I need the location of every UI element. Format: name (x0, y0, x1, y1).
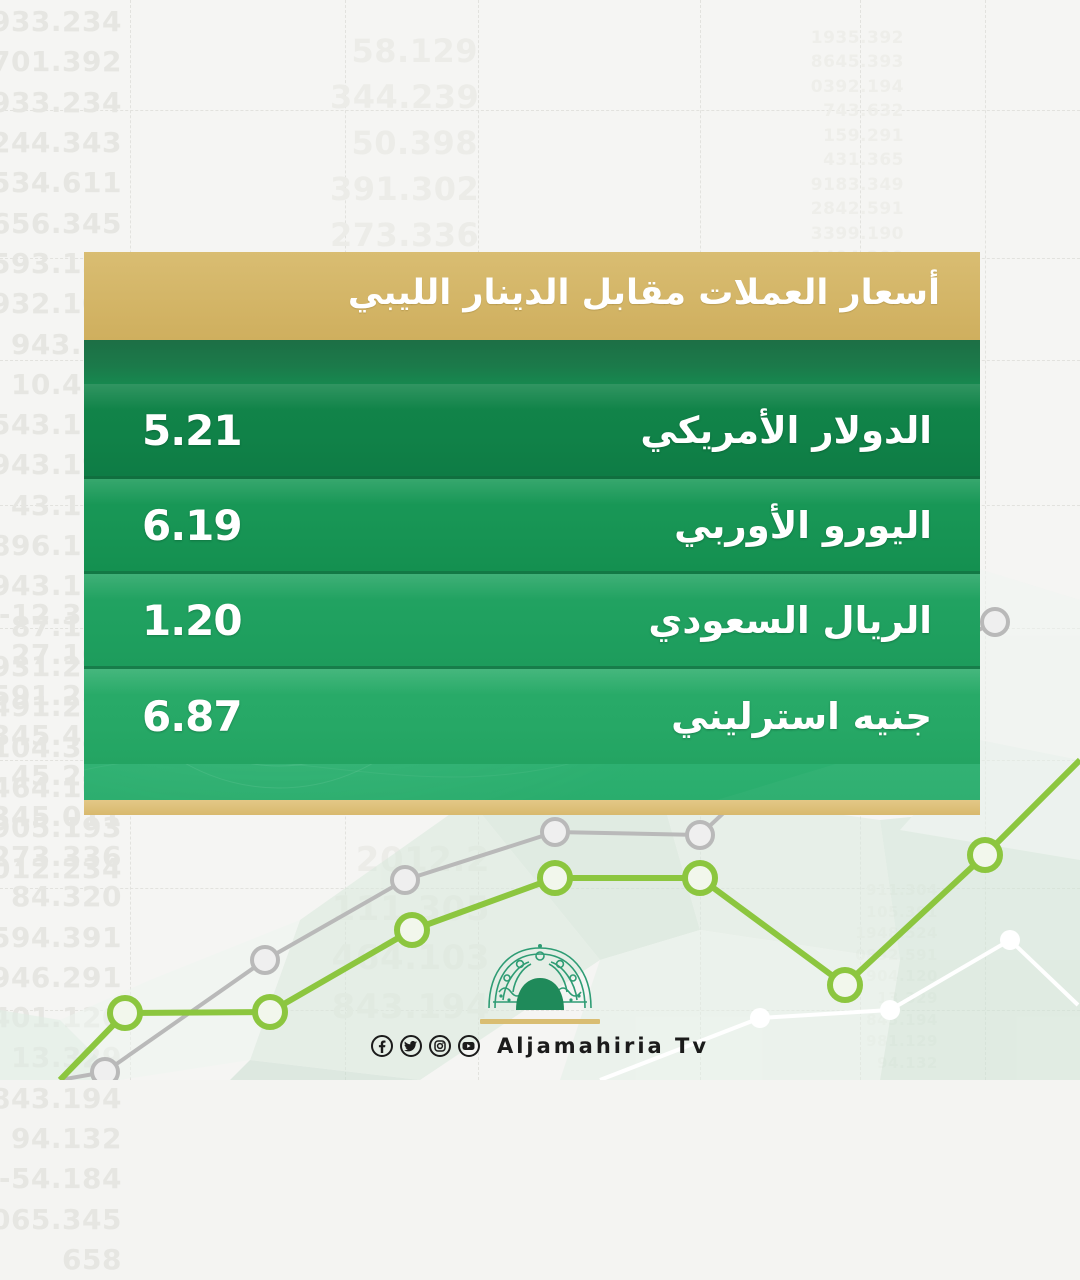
currency-value: 6.87 (142, 692, 242, 741)
currency-value: 5.21 (142, 406, 242, 455)
brand-footer: Aljamahiria Tv (0, 930, 1080, 1058)
currency-name: اليورو الأوربي (674, 504, 932, 547)
card-header: أسعار العملات مقابل الدينار الليبي (84, 252, 980, 340)
currency-row: 5.21الدولار الأمريكي (84, 384, 980, 479)
currency-row: 6.19اليورو الأوربي (84, 479, 980, 574)
card-body: 5.21الدولار الأمريكي6.19اليورو الأوربي1.… (84, 340, 980, 800)
currency-row: 6.87جنيه استرليني (84, 669, 980, 764)
currency-value: 6.19 (142, 501, 242, 550)
panel-top-strip (84, 340, 980, 384)
currency-name: جنيه استرليني (671, 695, 932, 738)
background-number: 843.194 (0, 1079, 122, 1119)
facebook-icon[interactable] (371, 1035, 393, 1057)
twitter-icon[interactable] (400, 1035, 422, 1057)
currency-row: 1.20الريال السعودي (84, 574, 980, 669)
ornamental-dome-logo (465, 930, 615, 1014)
background-number: 658 (0, 1240, 122, 1280)
currency-name: الريال السعودي (648, 599, 932, 642)
brand-name: Aljamahiria Tv (497, 1034, 709, 1058)
social-links: Aljamahiria Tv (371, 1034, 709, 1058)
page-title: أسعار العملات مقابل الدينار الليبي (348, 273, 940, 313)
background-number: 94.132 (0, 1119, 122, 1159)
card-footer-bar (84, 800, 980, 815)
currency-rows: 5.21الدولار الأمريكي6.19اليورو الأوربي1.… (84, 384, 980, 764)
instagram-icon[interactable] (429, 1035, 451, 1057)
currency-rates-card: أسعار العملات مقابل الدينار الليبي (84, 252, 980, 815)
panel-bottom-strip (84, 764, 980, 800)
currency-name: الدولار الأمريكي (640, 409, 932, 452)
currency-value: 1.20 (142, 596, 242, 645)
background-number: -54.184 (0, 1159, 122, 1199)
youtube-icon[interactable] (458, 1035, 480, 1057)
brand-divider (480, 1019, 600, 1024)
background-number: 065.345 (0, 1200, 122, 1240)
